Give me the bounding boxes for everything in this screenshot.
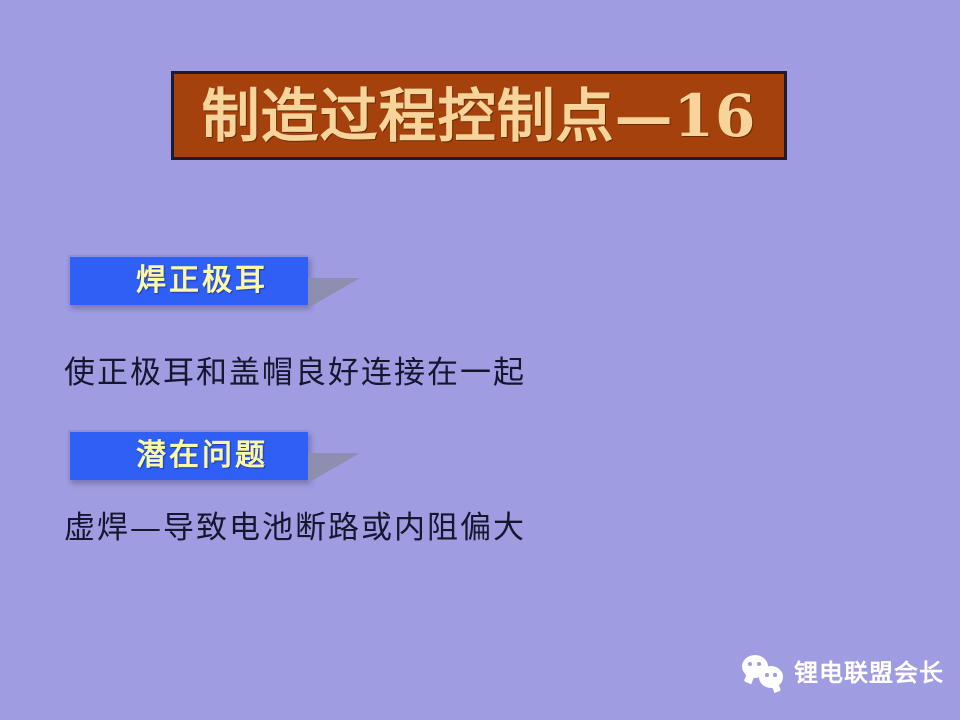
watermark-text: 锂电联盟会长 bbox=[794, 661, 944, 685]
callout-block-1: 焊正极耳 bbox=[68, 255, 308, 305]
callout-label-1: 焊正极耳 bbox=[136, 266, 268, 296]
page-title: 制造过程控制点—16 bbox=[202, 87, 757, 145]
slide-title-banner: 制造过程控制点—16 bbox=[171, 71, 787, 160]
right-triangle-arrow-icon bbox=[308, 453, 360, 483]
wechat-logo-icon bbox=[742, 655, 786, 691]
callout-label-box-1: 焊正极耳 bbox=[68, 255, 308, 305]
right-triangle-arrow-icon bbox=[308, 278, 360, 308]
slide-canvas: 制造过程控制点—16 焊正极耳 使正极耳和盖帽良好连接在一起 潜在问题 虚焊—导… bbox=[0, 0, 960, 720]
watermark: 锂电联盟会长 bbox=[742, 655, 944, 691]
callout-label-box-2: 潜在问题 bbox=[68, 430, 308, 480]
callout-label-2: 潜在问题 bbox=[136, 441, 268, 471]
callout-body-text-1: 使正极耳和盖帽良好连接在一起 bbox=[64, 355, 526, 392]
callout-block-2: 潜在问题 bbox=[68, 430, 308, 480]
callout-body-text-2: 虚焊—导致电池断路或内阻偏大 bbox=[64, 510, 526, 547]
